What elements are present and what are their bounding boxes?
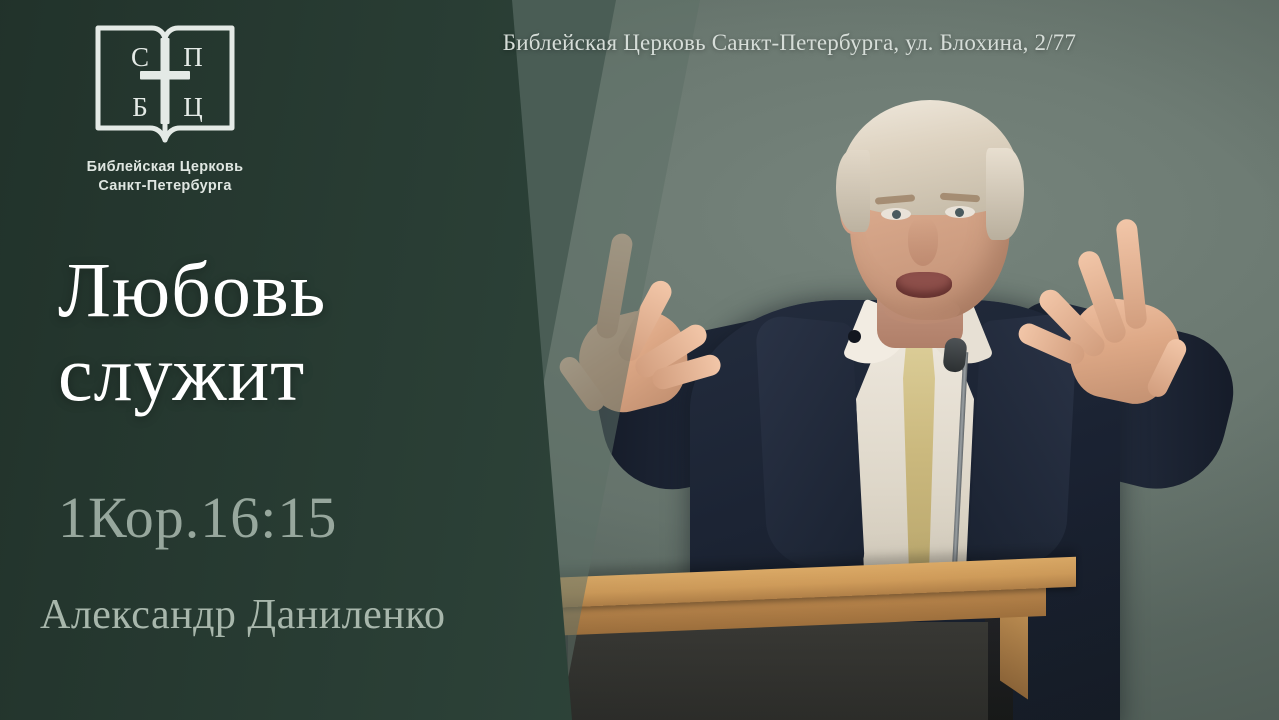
scripture-reference: 1Кор.16:15: [58, 489, 337, 547]
church-logo-caption: Библейская Церковь Санкт-Петербурга: [60, 158, 270, 195]
logo-letter-bottom-left: Б: [132, 92, 148, 122]
church-logo: С П Б Ц Библейская Церковь Санкт-Петербу…: [60, 18, 270, 195]
logo-letter-top-right: П: [183, 42, 203, 72]
logo-letter-top-left: С: [131, 42, 149, 72]
open-book-with-cross-icon: С П Б Ц: [90, 18, 240, 150]
speaker-name: Александр Даниленко: [40, 594, 446, 636]
sermon-title-slide: Библейская Церковь Санкт-Петербурга, ул.…: [0, 0, 1279, 720]
logo-letter-bottom-right: Ц: [183, 92, 203, 122]
sermon-title: Любовь служит: [58, 248, 478, 416]
